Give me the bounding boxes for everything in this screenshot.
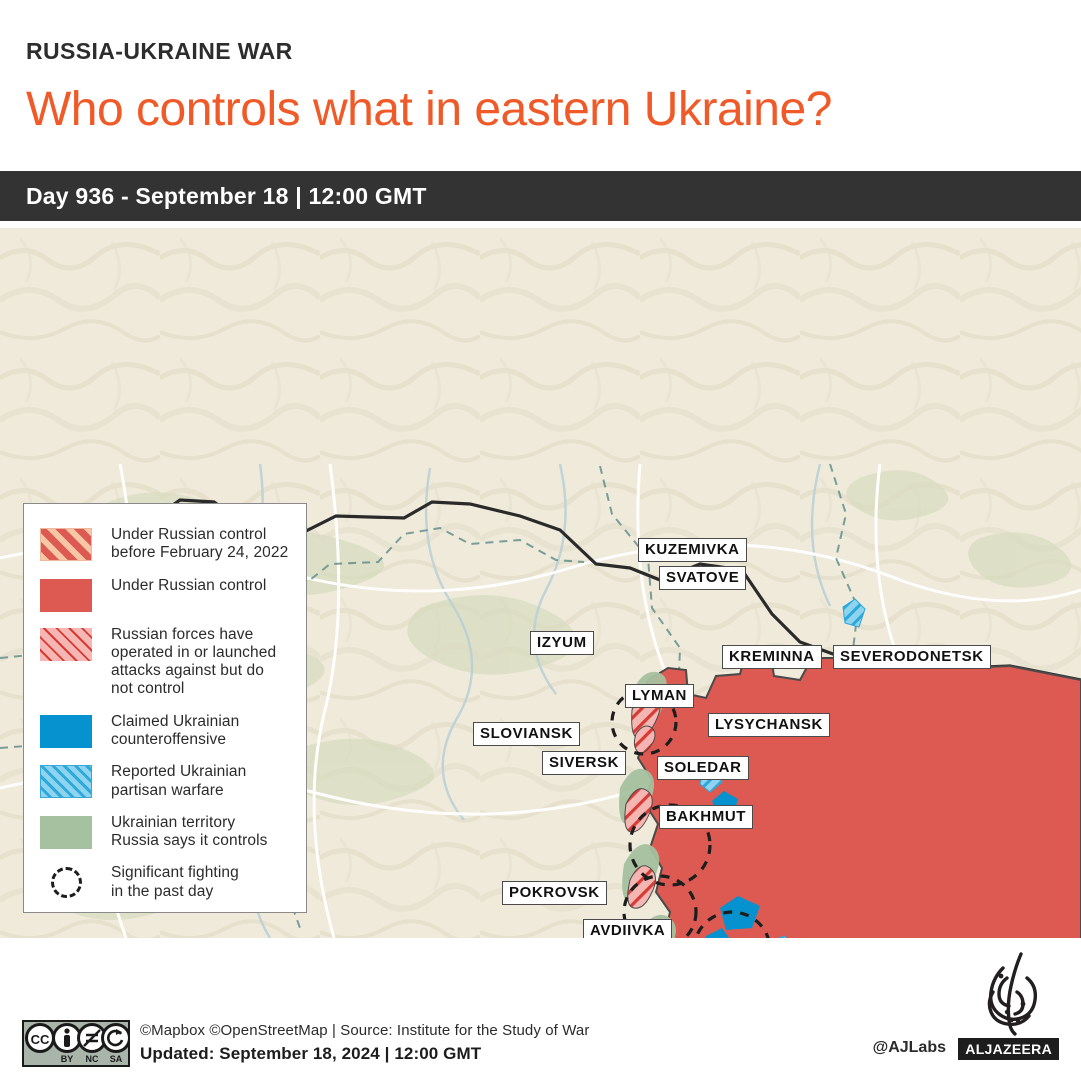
fighting-circle-icon [40,866,92,899]
day-bar-text: Day 936 - September 18 | 12:00 GMT [26,171,427,221]
city-label-lyman[interactable]: LYMAN [625,684,694,708]
legend-label-claimed: Ukrainian territory Russia says it contr… [111,814,268,851]
legend-line: before February 24, 2022 [111,544,288,562]
legend-line: counteroffensive [111,731,239,749]
legend-item-partisan: Reported Ukrainian partisan warfare [40,763,292,800]
legend-label-partisan: Reported Ukrainian partisan warfare [111,763,246,800]
day-bar: Day 936 - September 18 | 12:00 GMT [0,171,1081,221]
legend-item-prewar: Under Russian control before February 24… [40,526,292,563]
city-label-svatove[interactable]: SVATOVE [659,566,746,590]
legend-line: not control [111,680,276,698]
legend-label-counteroffensive: Claimed Ukrainian counteroffensive [111,713,239,750]
aljazeera-logo [959,948,1059,1038]
legend-line: partisan warfare [111,782,246,800]
cc-nc-label: NC [86,1054,99,1064]
creative-commons-badge[interactable]: CC BY NC SA [22,1020,130,1067]
legend-item-claimed: Ukrainian territory Russia says it contr… [40,814,292,851]
legend-line: Ukrainian territory [111,814,268,832]
city-label-pokrovsk[interactable]: POKROVSK [502,881,607,905]
city-label-kuzemivka[interactable]: KUZEMIVKA [638,538,747,562]
city-label-izyum[interactable]: IZYUM [530,631,594,655]
city-label-kreminna[interactable]: KREMINNA [722,645,822,669]
legend-line: Significant fighting [111,864,239,882]
russian-control-swatch [40,579,92,612]
city-label-siversk[interactable]: SIVERSK [542,751,626,775]
city-label-avdiivka[interactable]: AVDIIVKA [583,919,672,938]
counteroffensive-swatch [40,715,92,748]
cc-license-icon: CC BY NC SA [24,1022,128,1065]
page-title: Who controls what in eastern Ukraine? [26,82,832,137]
legend-line: Russian forces have [111,626,276,644]
legend-line: attacks against but do [111,662,276,680]
cc-by-label: BY [61,1054,74,1064]
legend-line: in the past day [111,883,239,901]
aljazeera-calligraphy-icon [959,948,1059,1038]
partisan-hatch-swatch [40,765,92,798]
ajlabs-handle: @AJLabs [873,1039,946,1057]
legend-label-attacked: Russian forces have operated in or launc… [111,626,276,699]
legend-item-fighting: Significant fighting in the past day [40,864,292,901]
infographic-page: RUSSIA-UKRAINE WAR Who controls what in … [0,0,1081,1081]
legend-item-attacked: Russian forces have operated in or launc… [40,626,292,699]
legend-label-russian-control: Under Russian control [111,577,266,595]
attacked-hatch-swatch [40,628,92,661]
city-label-sloviansk[interactable]: SLOVIANSK [473,722,580,746]
legend-label-fighting: Significant fighting in the past day [111,864,239,901]
aljazeera-wordmark: ALJAZEERA [958,1038,1059,1060]
legend-line: Russia says it controls [111,832,268,850]
source-attribution: ©Mapbox ©OpenStreetMap | Source: Institu… [140,1022,589,1039]
city-label-bakhmut[interactable]: BAKHMUT [659,805,753,829]
city-label-severodonetsk[interactable]: SEVERODONETSK [833,645,991,669]
prewar-hatch-swatch [40,528,92,561]
updated-timestamp: Updated: September 18, 2024 | 12:00 GMT [140,1044,481,1064]
city-label-lysychansk[interactable]: LYSYCHANSK [708,713,830,737]
legend-line: Reported Ukrainian [111,763,246,781]
legend-item-russian-control: Under Russian control [40,577,292,612]
legend-line: operated in or launched [111,644,276,662]
legend-label-prewar: Under Russian control before February 24… [111,526,288,563]
claimed-territory-swatch [40,816,92,849]
city-label-soledar[interactable]: SOLEDAR [657,756,749,780]
kicker-label: RUSSIA-UKRAINE WAR [26,38,293,65]
legend-item-counteroffensive: Claimed Ukrainian counteroffensive [40,713,292,750]
svg-text:CC: CC [31,1032,50,1047]
legend-line: Under Russian control [111,526,288,544]
map-legend: Under Russian control before February 24… [23,503,307,913]
legend-line: Under Russian control [111,577,266,595]
legend-line: Claimed Ukrainian [111,713,239,731]
cc-sa-label: SA [110,1054,123,1064]
